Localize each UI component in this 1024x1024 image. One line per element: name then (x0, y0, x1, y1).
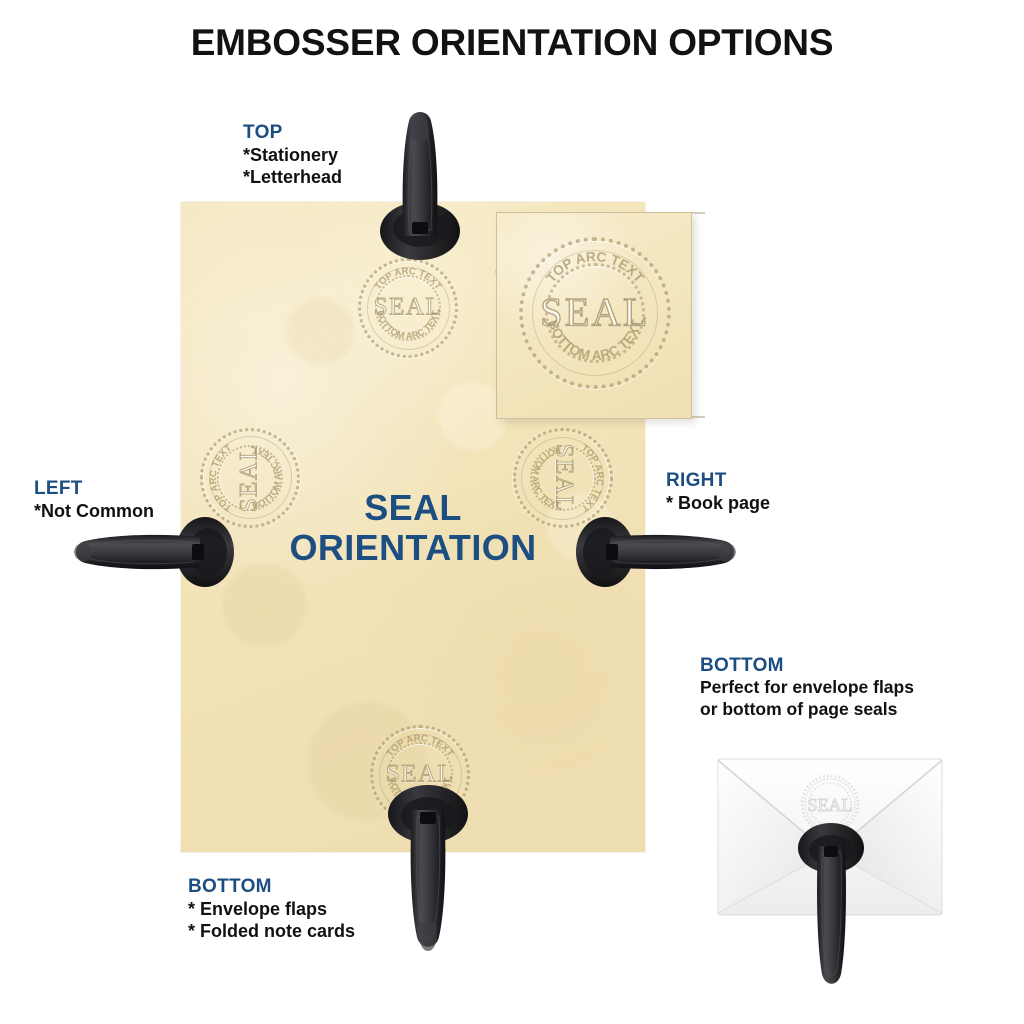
label-right-line-1: * Book page (666, 492, 770, 514)
svg-text:SEAL: SEAL (808, 795, 853, 815)
seal-top-arc-label: TOP ARC TEXT (543, 249, 647, 286)
embosser-left[interactable] (62, 512, 234, 590)
label-bottom-left: BOTTOM * Envelope flaps * Folded note ca… (188, 876, 355, 943)
label-right: RIGHT * Book page (666, 470, 770, 514)
embosser-envelope[interactable] (795, 820, 867, 998)
seal-center-label: SEAL (358, 293, 458, 321)
seal-center-label: SEAL (519, 289, 671, 336)
label-right-heading: RIGHT (666, 470, 770, 492)
seal-impression-magnified: TOP ARC TEXT BOTTOM ARC TEXT SEAL (519, 237, 671, 389)
label-bottom-left-heading: BOTTOM (188, 876, 355, 898)
label-top-line-1: *Stationery (243, 144, 342, 166)
caption-line-1: SEAL (364, 487, 462, 528)
seal-top-arc-label: TOP ARC TEXT (385, 733, 456, 759)
magnifier-callout: TOP ARC TEXT BOTTOM ARC TEXT SEAL (496, 212, 692, 419)
seal-top-arc-label: TOP ARC TEXT (373, 266, 444, 292)
label-bottom-right-line-2: or bottom of page seals (700, 699, 914, 721)
label-bottom-right-heading: BOTTOM (700, 655, 914, 677)
svg-text:TOP ARC TEXT: TOP ARC TEXT (385, 733, 456, 759)
embosser-right[interactable] (576, 512, 748, 590)
label-bottom-left-line-1: * Envelope flaps (188, 898, 355, 920)
embosser-bottom[interactable] (387, 782, 469, 960)
svg-text:TOP ARC TEXT: TOP ARC TEXT (373, 266, 444, 292)
label-top-heading: TOP (243, 122, 342, 144)
label-bottom-right: BOTTOM Perfect for envelope flaps or bot… (700, 655, 914, 720)
label-top: TOP *Stationery *Letterhead (243, 122, 342, 189)
seal-impression-top: TOP ARC TEXT BOTTOM ARC TEXT SEAL (358, 258, 458, 358)
svg-text:TOP ARC TEXT: TOP ARC TEXT (543, 249, 647, 286)
label-bottom-right-line-1: Perfect for envelope flaps (700, 677, 914, 699)
label-left-heading: LEFT (34, 478, 154, 500)
label-bottom-left-line-2: * Folded note cards (188, 920, 355, 942)
label-top-line-2: *Letterhead (243, 166, 342, 188)
illustration-canvas: EMBOSSER ORIENTATION OPTIONS TOP ARC TEX… (0, 0, 1024, 1024)
page-title: EMBOSSER ORIENTATION OPTIONS (0, 22, 1024, 64)
embosser-top[interactable] (379, 104, 461, 262)
